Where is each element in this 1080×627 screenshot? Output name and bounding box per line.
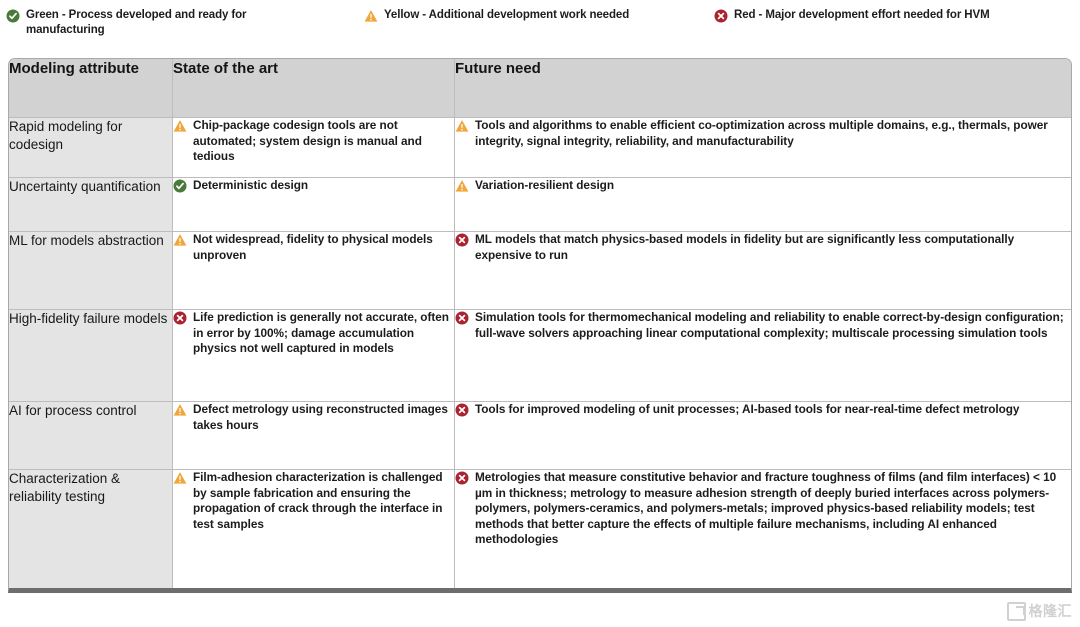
cell-text: Tools for improved modeling of unit proc…	[475, 402, 1019, 418]
cell-content: Deterministic design	[173, 178, 454, 194]
check-circle-icon	[173, 179, 187, 193]
x-circle-icon	[455, 403, 469, 417]
cell-content: Tools and algorithms to enable efficient…	[455, 118, 1071, 149]
table-cell-state_of_the_art: Defect metrology using reconstructed ima…	[173, 402, 455, 470]
warning-triangle-icon	[455, 119, 469, 133]
table-body: Rapid modeling for codesignChip-package …	[9, 118, 1071, 588]
table-cell-state_of_the_art: Deterministic design	[173, 178, 455, 232]
watermark-text: 格隆汇	[1029, 601, 1073, 621]
cell-content: Film-adhesion characterization is challe…	[173, 470, 454, 532]
cell-content: ML models that match physics-based model…	[455, 232, 1071, 263]
warning-triangle-icon	[173, 471, 187, 485]
column-header-state-of-the-art: State of the art	[173, 59, 455, 118]
legend-label-red: Red - Major development effort needed fo…	[734, 8, 990, 23]
warning-triangle-icon	[455, 179, 469, 193]
table-header: Modeling attribute State of the art Futu…	[9, 59, 1071, 118]
table-row: Uncertainty quantificationDeterministic …	[9, 178, 1071, 232]
modeling-attributes-table: Modeling attribute State of the art Futu…	[8, 58, 1072, 593]
check-circle-icon	[6, 9, 20, 23]
legend-item-green: Green - Process developed and ready for …	[6, 8, 276, 38]
table-cell-future_need: Metrologies that measure constitutive be…	[455, 470, 1071, 588]
cell-content: Defect metrology using reconstructed ima…	[173, 402, 454, 433]
table-cell-attribute: High-fidelity failure models	[9, 310, 173, 402]
cell-text: ML models that match physics-based model…	[475, 232, 1071, 263]
status-legend: Green - Process developed and ready for …	[0, 0, 1080, 52]
x-circle-icon	[173, 311, 187, 325]
cell-content: Simulation tools for thermomechanical mo…	[455, 310, 1071, 341]
cell-text: Metrologies that measure constitutive be…	[475, 470, 1071, 548]
table-row: Characterization & reliability testingFi…	[9, 470, 1071, 588]
cell-content: Life prediction is generally not accurat…	[173, 310, 454, 357]
roadmap-table-container: Modeling attribute State of the art Futu…	[8, 58, 1070, 593]
warning-triangle-icon	[173, 403, 187, 417]
table-cell-future_need: Tools and algorithms to enable efficient…	[455, 118, 1071, 178]
cell-text: Life prediction is generally not accurat…	[193, 310, 454, 357]
cell-content: Not widespread, fidelity to physical mod…	[173, 232, 454, 263]
column-header-modeling-attribute: Modeling attribute	[9, 59, 173, 118]
warning-triangle-icon	[364, 9, 378, 23]
column-header-future-need: Future need	[455, 59, 1071, 118]
legend-label-green: Green - Process developed and ready for …	[26, 8, 276, 38]
x-circle-icon	[455, 471, 469, 485]
table-cell-state_of_the_art: Film-adhesion characterization is challe…	[173, 470, 455, 588]
table-cell-state_of_the_art: Not widespread, fidelity to physical mod…	[173, 232, 455, 310]
cell-content: Metrologies that measure constitutive be…	[455, 470, 1071, 548]
cell-content: Variation-resilient design	[455, 178, 1071, 194]
cell-text: Not widespread, fidelity to physical mod…	[193, 232, 454, 263]
cell-text: Chip-package codesign tools are not auto…	[193, 118, 454, 165]
table-row: High-fidelity failure modelsLife predict…	[9, 310, 1071, 402]
table-cell-future_need: Simulation tools for thermomechanical mo…	[455, 310, 1071, 402]
watermark: 格隆汇	[1007, 601, 1073, 621]
table-cell-attribute: AI for process control	[9, 402, 173, 470]
table-row: Rapid modeling for codesignChip-package …	[9, 118, 1071, 178]
x-circle-icon	[714, 9, 728, 23]
cell-content: Chip-package codesign tools are not auto…	[173, 118, 454, 165]
table-header-row: Modeling attribute State of the art Futu…	[9, 59, 1071, 118]
cell-text: Film-adhesion characterization is challe…	[193, 470, 454, 532]
cell-text: Defect metrology using reconstructed ima…	[193, 402, 454, 433]
table-cell-attribute: Rapid modeling for codesign	[9, 118, 173, 178]
cell-text: Variation-resilient design	[475, 178, 614, 194]
warning-triangle-icon	[173, 233, 187, 247]
cell-text: Deterministic design	[193, 178, 308, 194]
legend-item-red: Red - Major development effort needed fo…	[714, 8, 1074, 23]
legend-item-yellow: Yellow - Additional development work nee…	[364, 8, 684, 23]
table-cell-attribute: Characterization & reliability testing	[9, 470, 173, 588]
table-cell-state_of_the_art: Chip-package codesign tools are not auto…	[173, 118, 455, 178]
table-cell-attribute: ML for models abstraction	[9, 232, 173, 310]
table-row: AI for process controlDefect metrology u…	[9, 402, 1071, 470]
x-circle-icon	[455, 233, 469, 247]
warning-triangle-icon	[173, 119, 187, 133]
table-cell-future_need: Variation-resilient design	[455, 178, 1071, 232]
cell-content: Tools for improved modeling of unit proc…	[455, 402, 1071, 418]
table-cell-attribute: Uncertainty quantification	[9, 178, 173, 232]
x-circle-icon	[455, 311, 469, 325]
table-row: ML for models abstractionNot widespread,…	[9, 232, 1071, 310]
table-cell-future_need: ML models that match physics-based model…	[455, 232, 1071, 310]
watermark-logo-icon	[1007, 602, 1026, 621]
table-cell-state_of_the_art: Life prediction is generally not accurat…	[173, 310, 455, 402]
legend-label-yellow: Yellow - Additional development work nee…	[384, 8, 629, 23]
cell-text: Tools and algorithms to enable efficient…	[475, 118, 1071, 149]
cell-text: Simulation tools for thermomechanical mo…	[475, 310, 1071, 341]
table-cell-future_need: Tools for improved modeling of unit proc…	[455, 402, 1071, 470]
